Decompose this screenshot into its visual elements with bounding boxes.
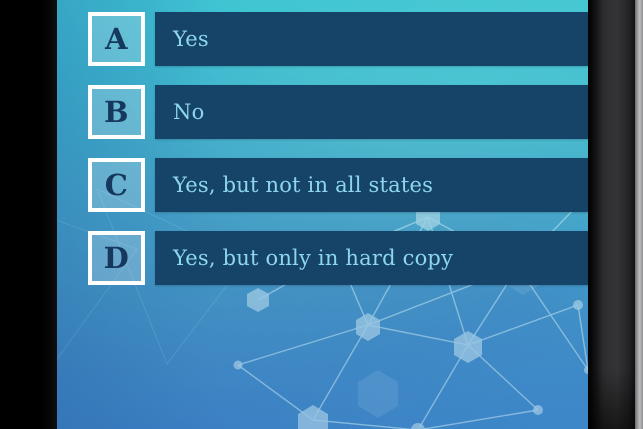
option-bar-b[interactable]: No [155,85,588,139]
option-bar-d[interactable]: Yes, but only in hard copy [155,231,588,285]
option-text-a: Yes [155,29,209,50]
option-letter-box-a[interactable]: A [88,12,145,66]
option-text-c: Yes, but not in all states [155,175,433,196]
option-bar-c[interactable]: Yes, but not in all states [155,158,588,212]
option-letter-b: B [104,98,129,127]
tablet-screen: A Yes B No C Yes, but not in a [57,0,588,429]
option-text-d: Yes, but only in hard copy [155,248,453,269]
answer-option-d[interactable]: D Yes, but only in hard copy [88,231,588,285]
option-letter-c: C [105,171,129,200]
device-bezel-left [0,0,57,429]
answer-options-list: A Yes B No C Yes, but not in a [88,12,588,304]
option-bar-a[interactable]: Yes [155,12,588,66]
answer-option-a[interactable]: A Yes [88,12,588,66]
option-letter-d: D [104,244,130,273]
option-letter-box-d[interactable]: D [88,231,145,285]
device-bezel-outer-edge [635,0,643,429]
device-bezel-shadow [588,0,602,429]
tablet-device-frame: A Yes B No C Yes, but not in a [0,0,643,429]
option-letter-box-b[interactable]: B [88,85,145,139]
option-letter-box-c[interactable]: C [88,158,145,212]
option-letter-a: A [105,25,128,54]
option-text-b: No [155,102,204,123]
answer-option-b[interactable]: B No [88,85,588,139]
answer-option-c[interactable]: C Yes, but not in all states [88,158,588,212]
